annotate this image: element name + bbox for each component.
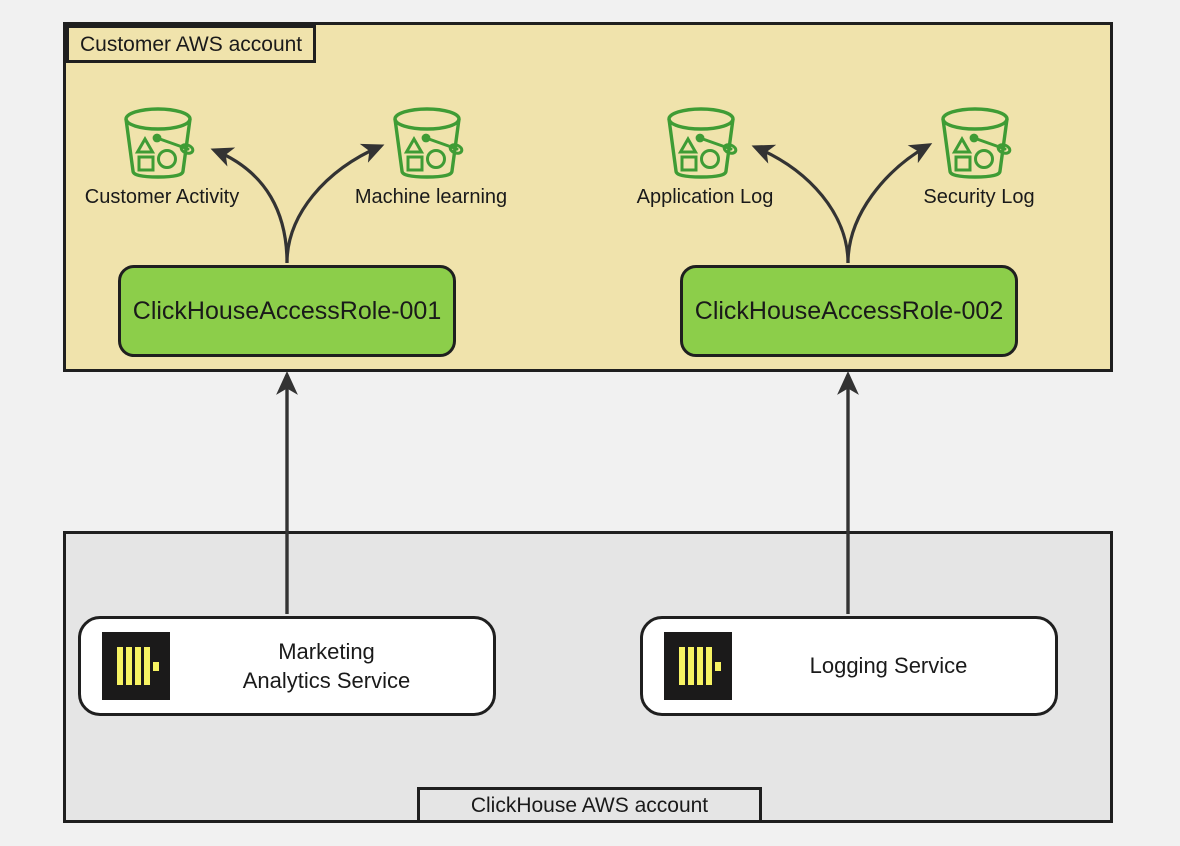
diagram-canvas: Customer AWS account Customer Activity M… (0, 0, 1180, 846)
bucket-label: Customer Activity (85, 187, 239, 207)
s3-bucket-icon (657, 105, 753, 181)
bucket-node-security-log[interactable]: Security Log (889, 105, 1069, 207)
service-box-marketing-analytics[interactable]: Marketing Analytics Service (78, 616, 496, 716)
s3-bucket-icon (383, 105, 479, 181)
s3-bucket-icon (114, 105, 210, 181)
bucket-label: Security Log (923, 187, 1034, 207)
clickhouse-aws-account-title: ClickHouse AWS account (417, 787, 762, 823)
bucket-label: Machine learning (355, 187, 507, 207)
service-label: Logging Service (732, 651, 1055, 680)
bucket-label: Application Log (637, 187, 774, 207)
clickhouse-logo-icon (102, 632, 170, 700)
role-box-clickhouseaccessrole-002[interactable]: ClickHouseAccessRole-002 (680, 265, 1018, 357)
clickhouse-logo-icon (664, 632, 732, 700)
customer-aws-account-title: Customer AWS account (66, 25, 316, 63)
service-box-logging[interactable]: Logging Service (640, 616, 1058, 716)
role-box-clickhouseaccessrole-001[interactable]: ClickHouseAccessRole-001 (118, 265, 456, 357)
bucket-node-application-log[interactable]: Application Log (615, 105, 795, 207)
bucket-node-customer-activity[interactable]: Customer Activity (72, 105, 252, 207)
service-label: Marketing Analytics Service (170, 637, 493, 695)
s3-bucket-icon (931, 105, 1027, 181)
bucket-node-machine-learning[interactable]: Machine learning (341, 105, 521, 207)
